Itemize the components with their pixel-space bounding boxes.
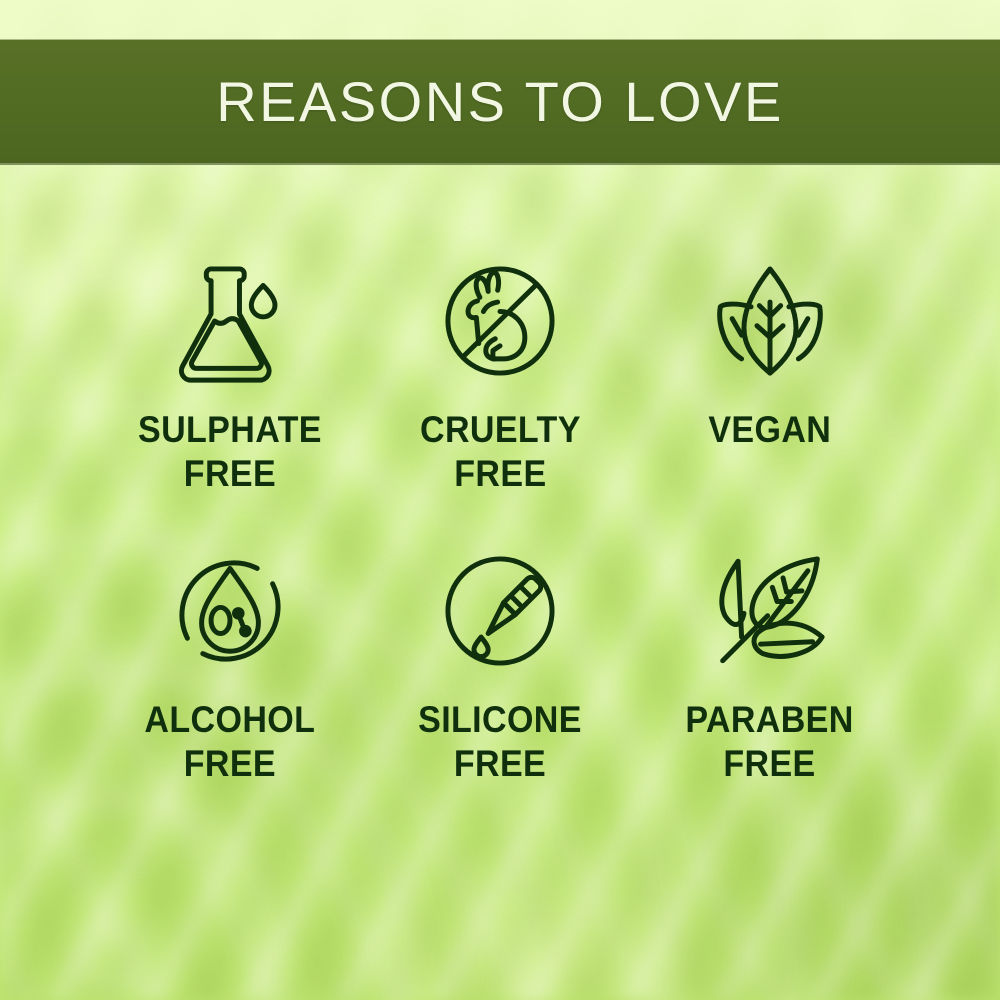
benefit-label-line2: FREE <box>420 452 581 496</box>
benefit-label: PARABEN FREE <box>686 698 854 785</box>
benefit-label-line1: PARABEN <box>686 699 854 740</box>
flask-droplet-icon <box>159 250 301 392</box>
benefit-label-line2: FREE <box>145 742 316 786</box>
leaf-branch-icon <box>699 540 841 682</box>
benefits-grid: SULPHATE FREE <box>0 250 1000 830</box>
benefit-paraben-free: PARABEN FREE <box>635 540 905 830</box>
benefit-label-line2: FREE <box>686 742 854 786</box>
benefit-label-line1: SILICONE <box>418 699 582 740</box>
benefit-label: ALCOHOL FREE <box>145 698 316 785</box>
benefit-label-line1: SULPHATE <box>138 409 322 450</box>
droplet-zero-percent-icon <box>159 540 301 682</box>
benefit-label: VEGAN <box>709 408 832 452</box>
three-leaves-icon <box>699 250 841 392</box>
benefit-cruelty-free: CRUELTY FREE <box>365 250 635 540</box>
benefit-label: CRUELTY FREE <box>420 408 581 495</box>
promo-graphic: REASONS TO LOVE SULPHATE FREE <box>0 0 1000 1000</box>
benefit-label-line2: FREE <box>138 452 322 496</box>
benefit-alcohol-free: ALCOHOL FREE <box>95 540 365 830</box>
benefit-label: SULPHATE FREE <box>138 408 322 495</box>
rabbit-no-icon <box>429 250 571 392</box>
benefit-sulphate-free: SULPHATE FREE <box>95 250 365 540</box>
page-title: REASONS TO LOVE <box>216 74 784 130</box>
benefit-label-line2: FREE <box>418 742 582 786</box>
benefit-vegan: VEGAN <box>635 250 905 540</box>
dropper-pipette-icon <box>429 540 571 682</box>
header-band: REASONS TO LOVE <box>0 40 1000 163</box>
benefit-silicone-free: SILICONE FREE <box>365 540 635 830</box>
benefit-label-line1: ALCOHOL <box>145 699 316 740</box>
benefit-label: SILICONE FREE <box>418 698 582 785</box>
benefit-label-line1: VEGAN <box>709 409 832 450</box>
benefit-label-line1: CRUELTY <box>420 409 581 450</box>
